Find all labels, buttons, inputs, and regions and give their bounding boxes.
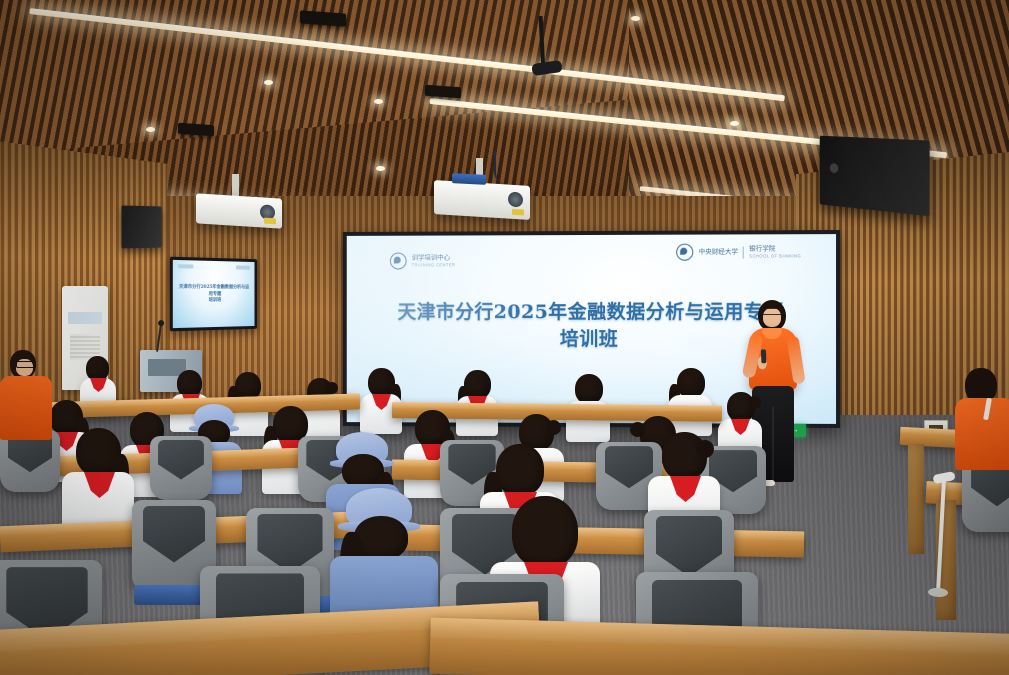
classroom-photo: 天津市分行2025年金融数据分析与运用专题 培训班 训学培训中心 TRAININ…	[0, 0, 1009, 675]
projector-lens-icon	[508, 192, 523, 208]
student-hair-bun	[546, 420, 561, 435]
person-orange-shirt	[0, 376, 52, 440]
slide-logo-right-secondary-block: 银行学院 SCHOOL OF BANKING	[749, 246, 801, 260]
monitor-logo-right-icon	[236, 265, 250, 269]
audience-member	[456, 370, 498, 434]
person-orange-shirt	[955, 398, 1009, 470]
university-crest-icon	[677, 244, 694, 261]
slide-title-line-2: 培训班	[376, 326, 807, 353]
projector-label	[264, 218, 276, 225]
audience-member	[360, 368, 402, 432]
student-head	[496, 444, 544, 496]
monitor-title-line-1: 天津市分行2025年金融数据分析与运用专题	[178, 284, 250, 298]
side-desk-leg	[908, 444, 924, 554]
audience-member-left-edge	[0, 350, 56, 460]
monitor-logo-left-icon	[178, 264, 194, 268]
student-head	[575, 374, 603, 404]
shield-logo-icon	[390, 252, 407, 269]
ceiling-projector-left	[196, 193, 282, 228]
slide-logo-right-name-block: 中央财经大学	[699, 248, 738, 256]
slide-logo-left-text: 训学培训中心 TRAINING CENTER	[412, 254, 456, 267]
ceiling-spotlight	[146, 127, 155, 132]
slide-logo-right-secondary: 银行学院	[749, 246, 801, 254]
student-hair-bun	[630, 422, 645, 437]
slide-logo-left: 训学培训中心 TRAINING CENTER	[390, 252, 455, 269]
audience-member	[718, 392, 762, 454]
glasses-icon	[762, 308, 784, 315]
slide-logo-right: 中央财经大学 银行学院 SCHOOL OF BANKING	[677, 244, 802, 261]
lecture-chair[interactable]	[150, 436, 212, 500]
wall-speaker-right	[820, 136, 930, 217]
projector-label	[512, 209, 524, 216]
projector-cable	[494, 150, 522, 184]
ceiling-spotlight	[730, 121, 739, 126]
wall-speaker-left	[121, 206, 161, 249]
slide-title: 天津市分行2025年金融数据分析与运用专题 培训班	[376, 299, 807, 353]
projector-accessory-device	[452, 173, 486, 185]
monitor-logo-row	[178, 264, 250, 270]
slide-logo-right-name: 中央财经大学	[699, 248, 738, 256]
slide-logo-left-subtitle: TRAINING CENTER	[412, 262, 456, 267]
ceiling-spotlight	[376, 166, 385, 171]
presenter-head	[758, 300, 786, 331]
slide-title-line-1: 天津市分行2025年金融数据分析与运用专题	[376, 299, 807, 326]
student-hair-bun	[696, 440, 714, 458]
student-hair-bun	[326, 382, 338, 394]
ceiling-spotlight	[264, 80, 273, 85]
monitor-screen: 天津市分行2025年金融数据分析与运用专题 培训班	[173, 260, 255, 328]
student-head	[177, 370, 202, 397]
slide-logo-left-name: 训学培训中心	[412, 254, 456, 262]
student-head	[512, 496, 578, 568]
monitor-title-line-2: 培训班	[178, 298, 250, 305]
student-hair-bun	[748, 396, 761, 409]
handheld-microphone-icon	[761, 349, 766, 363]
wall-mounted-monitor[interactable]: 天津市分行2025年金融数据分析与运用专题 培训班	[170, 257, 257, 332]
ceiling-projector-center	[434, 180, 530, 220]
ceiling-spotlight	[631, 16, 640, 21]
audience-member-right-edge	[955, 368, 1009, 498]
student-head	[677, 368, 705, 398]
projector-mount	[232, 174, 239, 198]
ceiling-spotlight	[374, 99, 383, 104]
monitor-slide-title: 天津市分行2025年金融数据分析与运用专题 培训班	[178, 284, 250, 305]
slide-logo-right-subtitle: SCHOOL OF BANKING	[749, 254, 801, 259]
logo-divider	[743, 246, 744, 258]
glasses-icon	[16, 361, 36, 368]
